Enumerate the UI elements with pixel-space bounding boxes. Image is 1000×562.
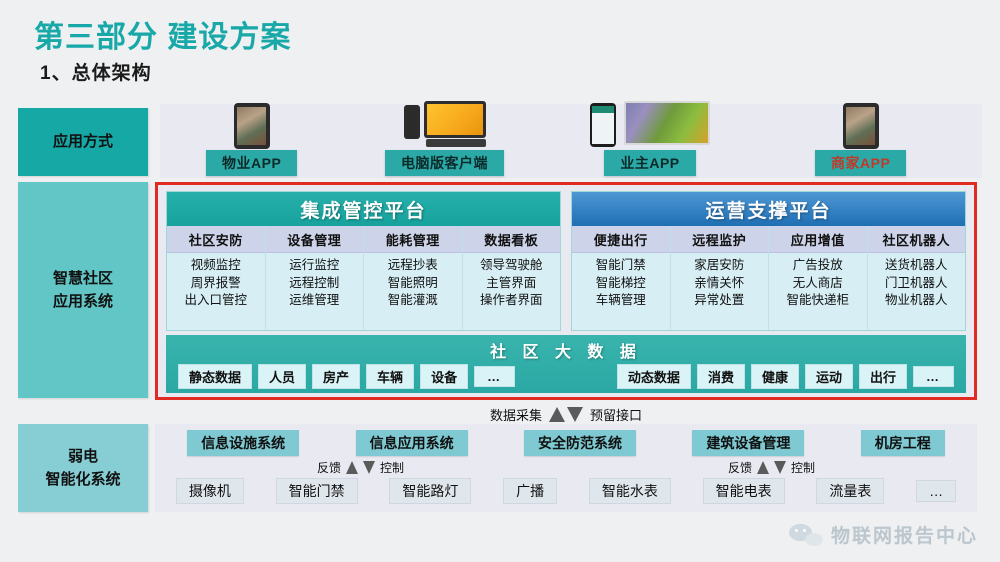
device-label-merchant-app: 商家APP: [815, 150, 906, 176]
sidebar-item-weak-current[interactable]: 弱电 智能化系统: [18, 424, 148, 512]
device-merchant-app[interactable]: 商家APP: [815, 101, 906, 176]
device-label-pc-client: 电脑版客户端: [385, 150, 504, 176]
column-item: 智能灌溉: [388, 292, 438, 309]
column-item: 广告投放: [793, 257, 843, 274]
watermark: 物联网报告中心: [789, 521, 978, 548]
column-item: 运行监控: [289, 257, 339, 274]
architecture-frame: 集成管控平台 社区安防 视频监控 周界报警 出入口管控 设备管理 运行监控: [155, 182, 977, 400]
big-data-tag[interactable]: 车辆: [366, 364, 414, 389]
weak-current-block: 信息设施系统 信息应用系统 安全防范系统 建筑设备管理 机房工程 反馈 控制 反…: [155, 424, 977, 512]
system-security-protection[interactable]: 安全防范系统: [524, 430, 636, 456]
feedback-control-row: 反馈 控制 反馈 控制: [155, 457, 977, 477]
column-item: 家居安防: [694, 257, 744, 274]
sidebar-item-application-mode[interactable]: 应用方式: [18, 108, 148, 176]
column-item: 无人商店: [793, 275, 843, 292]
field-device-access-control[interactable]: 智能门禁: [276, 478, 358, 504]
big-data-tag[interactable]: 房产: [312, 364, 360, 389]
column-items: 领导驾驶舱 主管界面 操作者界面: [463, 253, 561, 330]
tablet-icon: [234, 101, 270, 149]
connector-data-collection: 数据采集 预留接口: [155, 403, 977, 425]
platform-columns-operation-support: 便捷出行 智能门禁 智能梯控 车辆管理 远程监护 家居安防 亲情关怀 异常处置: [572, 226, 965, 330]
page-title: 第三部分 建设方案: [34, 12, 291, 56]
sidebar-label-application-mode: 应用方式: [53, 130, 113, 153]
device-label-property-app: 物业APP: [206, 150, 297, 176]
column-item: 远程控制: [289, 275, 339, 292]
big-data-tag[interactable]: 健康: [751, 364, 799, 389]
platform-title-integrated-control: 集成管控平台: [167, 192, 560, 226]
big-data-tag[interactable]: 静态数据: [178, 364, 252, 389]
column-community-security[interactable]: 社区安防 视频监控 周界报警 出入口管控: [167, 226, 266, 330]
big-data-tags: 静态数据 人员 房产 车辆 设备 … 动态数据 消费 健康 运动 出行 …: [166, 362, 966, 389]
arrow-up-icon: [757, 461, 769, 474]
column-items: 智能门禁 智能梯控 车辆管理: [572, 253, 670, 330]
big-data-tag[interactable]: 人员: [258, 364, 306, 389]
wechat-logo-icon: [789, 524, 823, 546]
arrow-down-icon: [363, 461, 375, 474]
slide-root: 第三部分 建设方案 1、总体架构 应用方式 智慧社区 应用系统 弱电 智能化系统…: [0, 0, 1000, 562]
column-title: 数据看板: [463, 226, 561, 253]
column-application-value-added[interactable]: 应用增值 广告投放 无人商店 智能快递柜: [769, 226, 868, 330]
column-data-dashboard[interactable]: 数据看板 领导驾驶舱 主管界面 操作者界面: [463, 226, 561, 330]
column-item: 门卫机器人: [885, 275, 948, 292]
column-items: 远程抄表 智能照明 智能灌溉: [364, 253, 462, 330]
feedback-label: 反馈: [728, 459, 752, 476]
column-items: 广告投放 无人商店 智能快递柜: [769, 253, 867, 330]
sidebar-label-weak-current-line2: 智能化系统: [45, 468, 120, 491]
column-item: 远程抄表: [388, 257, 438, 274]
column-item: 周界报警: [191, 275, 241, 292]
big-data-title: 社 区 大 数 据: [166, 335, 966, 362]
column-items: 运行监控 远程控制 运维管理: [266, 253, 364, 330]
column-items: 送货机器人 门卫机器人 物业机器人: [868, 253, 966, 330]
feedback-control-right: 反馈 控制: [728, 459, 815, 476]
big-data-tag-more[interactable]: …: [913, 366, 954, 387]
column-remote-care[interactable]: 远程监护 家居安防 亲情关怀 异常处置: [671, 226, 770, 330]
column-title: 应用增值: [769, 226, 867, 253]
system-info-application[interactable]: 信息应用系统: [356, 430, 468, 456]
sidebar-item-smart-community[interactable]: 智慧社区 应用系统: [18, 182, 148, 398]
big-data-band: 社 区 大 数 据 静态数据 人员 房产 车辆 设备 … 动态数据 消费 健康 …: [166, 335, 966, 393]
tablet-icon: [843, 101, 879, 149]
field-device-flow-meter[interactable]: 流量表: [816, 478, 884, 504]
column-convenient-travel[interactable]: 便捷出行 智能门禁 智能梯控 车辆管理: [572, 226, 671, 330]
column-item: 亲情关怀: [694, 275, 744, 292]
arrow-down-icon: [774, 461, 786, 474]
column-item: 领导驾驶舱: [480, 257, 543, 274]
sidebar-label-smart-community-line1: 智慧社区: [53, 267, 113, 290]
column-title: 远程监护: [671, 226, 769, 253]
field-device-camera[interactable]: 摄像机: [176, 478, 244, 504]
column-items: 家居安防 亲情关怀 异常处置: [671, 253, 769, 330]
field-device-smart-streetlight[interactable]: 智能路灯: [389, 478, 471, 504]
feedback-label: 反馈: [317, 459, 341, 476]
platform-integrated-control[interactable]: 集成管控平台 社区安防 视频监控 周界报警 出入口管控 设备管理 运行监控: [166, 191, 561, 331]
column-item: 物业机器人: [885, 292, 948, 309]
device-row: 物业APP 电脑版客户端 业主APP 商家APP: [160, 104, 982, 178]
device-property-app[interactable]: 物业APP: [206, 101, 297, 176]
device-pc-client[interactable]: 电脑版客户端: [385, 101, 504, 176]
column-item: 送货机器人: [885, 257, 948, 274]
big-data-tag[interactable]: 运动: [805, 364, 853, 389]
field-device-broadcast[interactable]: 广播: [503, 478, 557, 504]
column-item: 智能照明: [388, 275, 438, 292]
desktop-icon: [402, 101, 488, 149]
column-item: 出入口管控: [184, 292, 247, 309]
arrow-up-icon: [346, 461, 358, 474]
control-label: 控制: [791, 459, 815, 476]
column-item: 操作者界面: [480, 292, 543, 309]
big-data-tag[interactable]: 消费: [697, 364, 745, 389]
system-machine-room[interactable]: 机房工程: [861, 430, 945, 456]
column-item: 主管界面: [486, 275, 536, 292]
column-item: 视频监控: [191, 257, 241, 274]
big-data-tag-more[interactable]: …: [474, 366, 515, 387]
connector-label-reserved-interface: 预留接口: [590, 405, 642, 424]
column-item: 智能门禁: [596, 257, 646, 274]
weak-current-systems-row: 信息设施系统 信息应用系统 安全防范系统 建筑设备管理 机房工程: [155, 424, 977, 456]
column-item: 智能快递柜: [786, 292, 849, 309]
arrow-up-icon: [549, 407, 565, 422]
watermark-text: 物联网报告中心: [831, 521, 978, 548]
column-items: 视频监控 周界报警 出入口管控: [167, 253, 265, 330]
system-info-facility[interactable]: 信息设施系统: [187, 430, 299, 456]
device-owner-app[interactable]: 业主APP: [590, 101, 710, 176]
sidebar-label-weak-current-line1: 弱电: [68, 445, 98, 468]
device-label-owner-app: 业主APP: [604, 150, 695, 176]
field-device-electricity-meter[interactable]: 智能电表: [703, 478, 785, 504]
arrow-down-icon: [567, 407, 583, 422]
connector-label-collection: 数据采集: [490, 405, 542, 424]
platform-container: 集成管控平台 社区安防 视频监控 周界报警 出入口管控 设备管理 运行监控: [166, 191, 966, 331]
column-energy-management[interactable]: 能耗管理 远程抄表 智能照明 智能灌溉: [364, 226, 463, 330]
column-title: 社区机器人: [868, 226, 966, 253]
control-label: 控制: [380, 459, 404, 476]
column-title: 设备管理: [266, 226, 364, 253]
big-data-tag[interactable]: 出行: [859, 364, 907, 389]
column-item: 车辆管理: [596, 292, 646, 309]
sidebar-label-smart-community-line2: 应用系统: [53, 290, 113, 313]
column-community-robot[interactable]: 社区机器人 送货机器人 门卫机器人 物业机器人: [868, 226, 966, 330]
platform-title-operation-support: 运营支撑平台: [572, 192, 965, 226]
field-device-water-meter[interactable]: 智能水表: [589, 478, 671, 504]
field-devices-row: 摄像机 智能门禁 智能路灯 广播 智能水表 智能电表 流量表 …: [155, 478, 977, 504]
big-data-tag[interactable]: 动态数据: [617, 364, 691, 389]
platform-columns-integrated-control: 社区安防 视频监控 周界报警 出入口管控 设备管理 运行监控 远程控制 运维管理: [167, 226, 560, 330]
phone-tv-icon: [590, 101, 710, 149]
connector-arrows: [549, 407, 583, 422]
column-item: 运维管理: [289, 292, 339, 309]
field-device-more[interactable]: …: [916, 480, 956, 502]
page-subtitle: 1、总体架构: [40, 58, 152, 85]
platform-operation-support[interactable]: 运营支撑平台 便捷出行 智能门禁 智能梯控 车辆管理 远程监护 家居安防: [571, 191, 966, 331]
column-item: 智能梯控: [596, 275, 646, 292]
big-data-tag[interactable]: 设备: [420, 364, 468, 389]
feedback-control-left: 反馈 控制: [317, 459, 404, 476]
column-title: 便捷出行: [572, 226, 670, 253]
system-building-equipment[interactable]: 建筑设备管理: [692, 430, 804, 456]
column-title: 能耗管理: [364, 226, 462, 253]
column-item: 异常处置: [694, 292, 744, 309]
column-title: 社区安防: [167, 226, 265, 253]
column-equipment-management[interactable]: 设备管理 运行监控 远程控制 运维管理: [266, 226, 365, 330]
